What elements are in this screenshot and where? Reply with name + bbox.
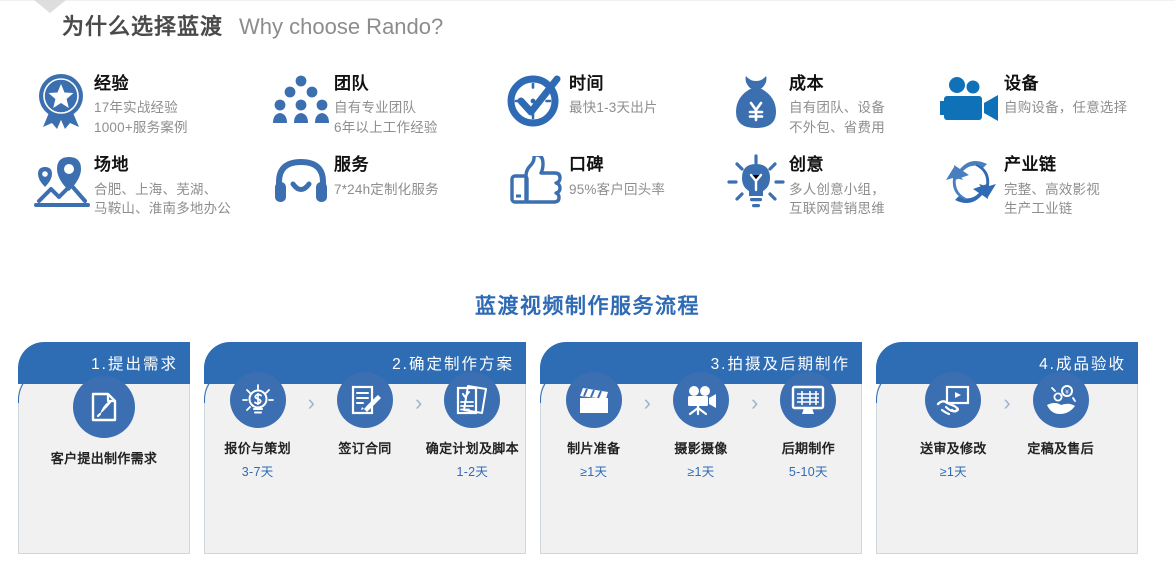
substep-label: 定稿及售后 [1027, 438, 1094, 457]
handshake-screen-icon [925, 372, 981, 428]
feature-item-cost: 成本 自有团队、设备 不外包、省费用 [723, 68, 938, 137]
process-substeps: 制片准备 ≥1天 › [540, 372, 862, 546]
substep-item[interactable]: 确定计划及脚本 1-2天 [424, 372, 520, 477]
script-docs-icon [444, 372, 500, 428]
process-substeps: 客户提出制作需求 [18, 376, 190, 546]
feature-text: 场地 合肥、上海、芜湖、 马鞍山、淮南多地办公 [94, 149, 231, 218]
hand-coins-icon: ¥ [1033, 372, 1089, 428]
substep-item[interactable]: ¥ 定稿及售后 [1013, 372, 1109, 477]
substep-item[interactable]: 制片准备 ≥1天 [546, 372, 642, 477]
feature-title: 创意 [789, 154, 885, 175]
feature-text: 服务 7*24h定制化服务 [334, 149, 439, 199]
substep-duration: 3-7天 [242, 461, 274, 477]
substep-label: 送审及修改 [920, 438, 987, 457]
monitor-edit-icon [780, 372, 836, 428]
feature-title: 口碑 [569, 154, 665, 175]
process-substeps: 送审及修改 ≥1天 › ¥ [876, 372, 1138, 546]
feature-title: 经验 [94, 73, 188, 94]
page-root: 为什么选择蓝渡 Why choose Rando? 经验 17年实战经验 1 [0, 0, 1175, 570]
substep-item[interactable]: 送审及修改 ≥1天 [905, 372, 1001, 477]
clock-check-icon [503, 68, 569, 134]
bulb-dollar-icon [230, 372, 286, 428]
process-card-1[interactable]: 1.提出需求 客户提出制作需求 [18, 342, 190, 554]
feature-desc: 多人创意小组， 互联网营销思维 [789, 180, 885, 219]
feature-title: 场地 [94, 154, 231, 175]
feature-text: 团队 自有专业团队 6年以上工作经验 [334, 68, 438, 137]
features-row-2: 场地 合肥、上海、芜湖、 马鞍山、淮南多地办公 服务 7*24h定制化服务 [28, 149, 1168, 218]
lightbulb-icon [723, 149, 789, 215]
feature-title: 产业链 [1004, 154, 1100, 175]
headset-icon [268, 149, 334, 215]
page-title: 为什么选择蓝渡 Why choose Rando? [62, 9, 443, 41]
feature-item-reputation: 口碑 95%客户回头率 [503, 149, 723, 218]
page-title-en: Why choose Rando? [239, 14, 443, 40]
feature-desc: 合肥、上海、芜湖、 马鞍山、淮南多地办公 [94, 180, 231, 219]
substep-item[interactable]: 摄影摄像 ≥1天 [653, 372, 749, 477]
top-divider [0, 0, 1175, 1]
feature-desc: 自购设备，任意选择 [1004, 98, 1127, 118]
process-card-3[interactable]: 3.拍摄及后期制作 制片准备 [540, 342, 862, 554]
substep-label: 报价与策划 [224, 438, 291, 457]
process-substeps: 报价与策划 3-7天 › [204, 372, 526, 546]
feature-item-team: 团队 自有专业团队 6年以上工作经验 [268, 68, 503, 137]
document-pen-icon [73, 376, 135, 438]
process-card-2[interactable]: 2.确定制作方案 [204, 342, 526, 554]
feature-text: 成本 自有团队、设备 不外包、省费用 [789, 68, 885, 137]
substep-duration: 1-2天 [456, 461, 488, 477]
feature-desc: 95%客户回头率 [569, 180, 665, 200]
feature-text: 设备 自购设备，任意选择 [1004, 68, 1127, 118]
feature-text: 创意 多人创意小组， 互联网营销思维 [789, 149, 885, 218]
feature-title: 时间 [569, 73, 658, 94]
substep-item[interactable]: 签订合同 [317, 372, 413, 477]
feature-item-creativity: 创意 多人创意小组， 互联网营销思维 [723, 149, 938, 218]
substep-duration: ≥1天 [687, 461, 714, 477]
chevron-right-icon: › [1001, 390, 1012, 416]
substep-item[interactable]: 报价与策划 3-7天 [210, 372, 306, 477]
feature-item-time: 时间 最快1-3天出片 [503, 68, 723, 137]
feature-text: 经验 17年实战经验 1000+服务案例 [94, 68, 188, 137]
feature-desc: 17年实战经验 1000+服务案例 [94, 98, 188, 137]
feature-title: 设备 [1004, 73, 1127, 94]
substep-item[interactable]: 客户提出制作需求 [51, 376, 157, 487]
process-flow: 1.提出需求 客户提出制作需求 [18, 342, 1170, 554]
substep-label: 签订合同 [338, 438, 391, 457]
substep-label: 确定计划及脚本 [426, 438, 519, 457]
feature-item-industry-chain: 产业链 完整、高效影视 生产工业链 [938, 149, 1158, 218]
team-icon [268, 68, 334, 134]
chevron-right-icon: › [413, 390, 424, 416]
substep-label: 制片准备 [567, 438, 620, 457]
substep-label: 客户提出制作需求 [51, 448, 157, 467]
feature-text: 口碑 95%客户回头率 [569, 149, 665, 199]
feature-item-service: 服务 7*24h定制化服务 [268, 149, 503, 218]
feature-title: 团队 [334, 73, 438, 94]
movie-camera-icon [673, 372, 729, 428]
thumbs-up-icon [503, 149, 569, 215]
substep-label: 后期制作 [782, 438, 835, 457]
feature-desc: 最快1-3天出片 [569, 98, 658, 118]
process-heading: 蓝渡视频制作服务流程 [0, 290, 1175, 320]
process-card-4[interactable]: 4.成品验收 送审及修改 ≥1天 › [876, 342, 1138, 554]
video-camera-icon [938, 68, 1004, 134]
feature-item-venue: 场地 合肥、上海、芜湖、 马鞍山、淮南多地办公 [28, 149, 268, 218]
recycle-arrows-icon [938, 149, 1004, 215]
chevron-right-icon: › [306, 390, 317, 416]
page-title-cn: 为什么选择蓝渡 [62, 9, 223, 41]
feature-desc: 7*24h定制化服务 [334, 180, 439, 200]
features-grid: 经验 17年实战经验 1000+服务案例 [28, 68, 1168, 219]
feature-desc: 自有专业团队 6年以上工作经验 [334, 98, 438, 137]
feature-desc: 自有团队、设备 不外包、省费用 [789, 98, 885, 137]
features-row-1: 经验 17年实战经验 1000+服务案例 [28, 68, 1168, 137]
feature-title: 成本 [789, 73, 885, 94]
substep-label: 摄影摄像 [674, 438, 727, 457]
feature-item-experience: 经验 17年实战经验 1000+服务案例 [28, 68, 268, 137]
substep-duration: ≥1天 [940, 461, 967, 477]
feature-desc: 完整、高效影视 生产工业链 [1004, 180, 1100, 219]
substep-item[interactable]: 后期制作 5-10天 [760, 372, 856, 477]
feature-text: 时间 最快1-3天出片 [569, 68, 658, 118]
money-bag-icon [723, 68, 789, 134]
chevron-right-icon: › [642, 390, 653, 416]
medal-icon [28, 68, 94, 134]
contract-sign-icon [337, 372, 393, 428]
chevron-right-icon: › [749, 390, 760, 416]
substep-duration: ≥1天 [580, 461, 607, 477]
feature-title: 服务 [334, 154, 439, 175]
feature-text: 产业链 完整、高效影视 生产工业链 [1004, 149, 1100, 218]
feature-item-equipment: 设备 自购设备，任意选择 [938, 68, 1158, 137]
svg-text:¥: ¥ [1065, 389, 1069, 396]
map-pin-icon [28, 149, 94, 215]
substep-duration: 5-10天 [789, 461, 828, 477]
clapperboard-icon [566, 372, 622, 428]
